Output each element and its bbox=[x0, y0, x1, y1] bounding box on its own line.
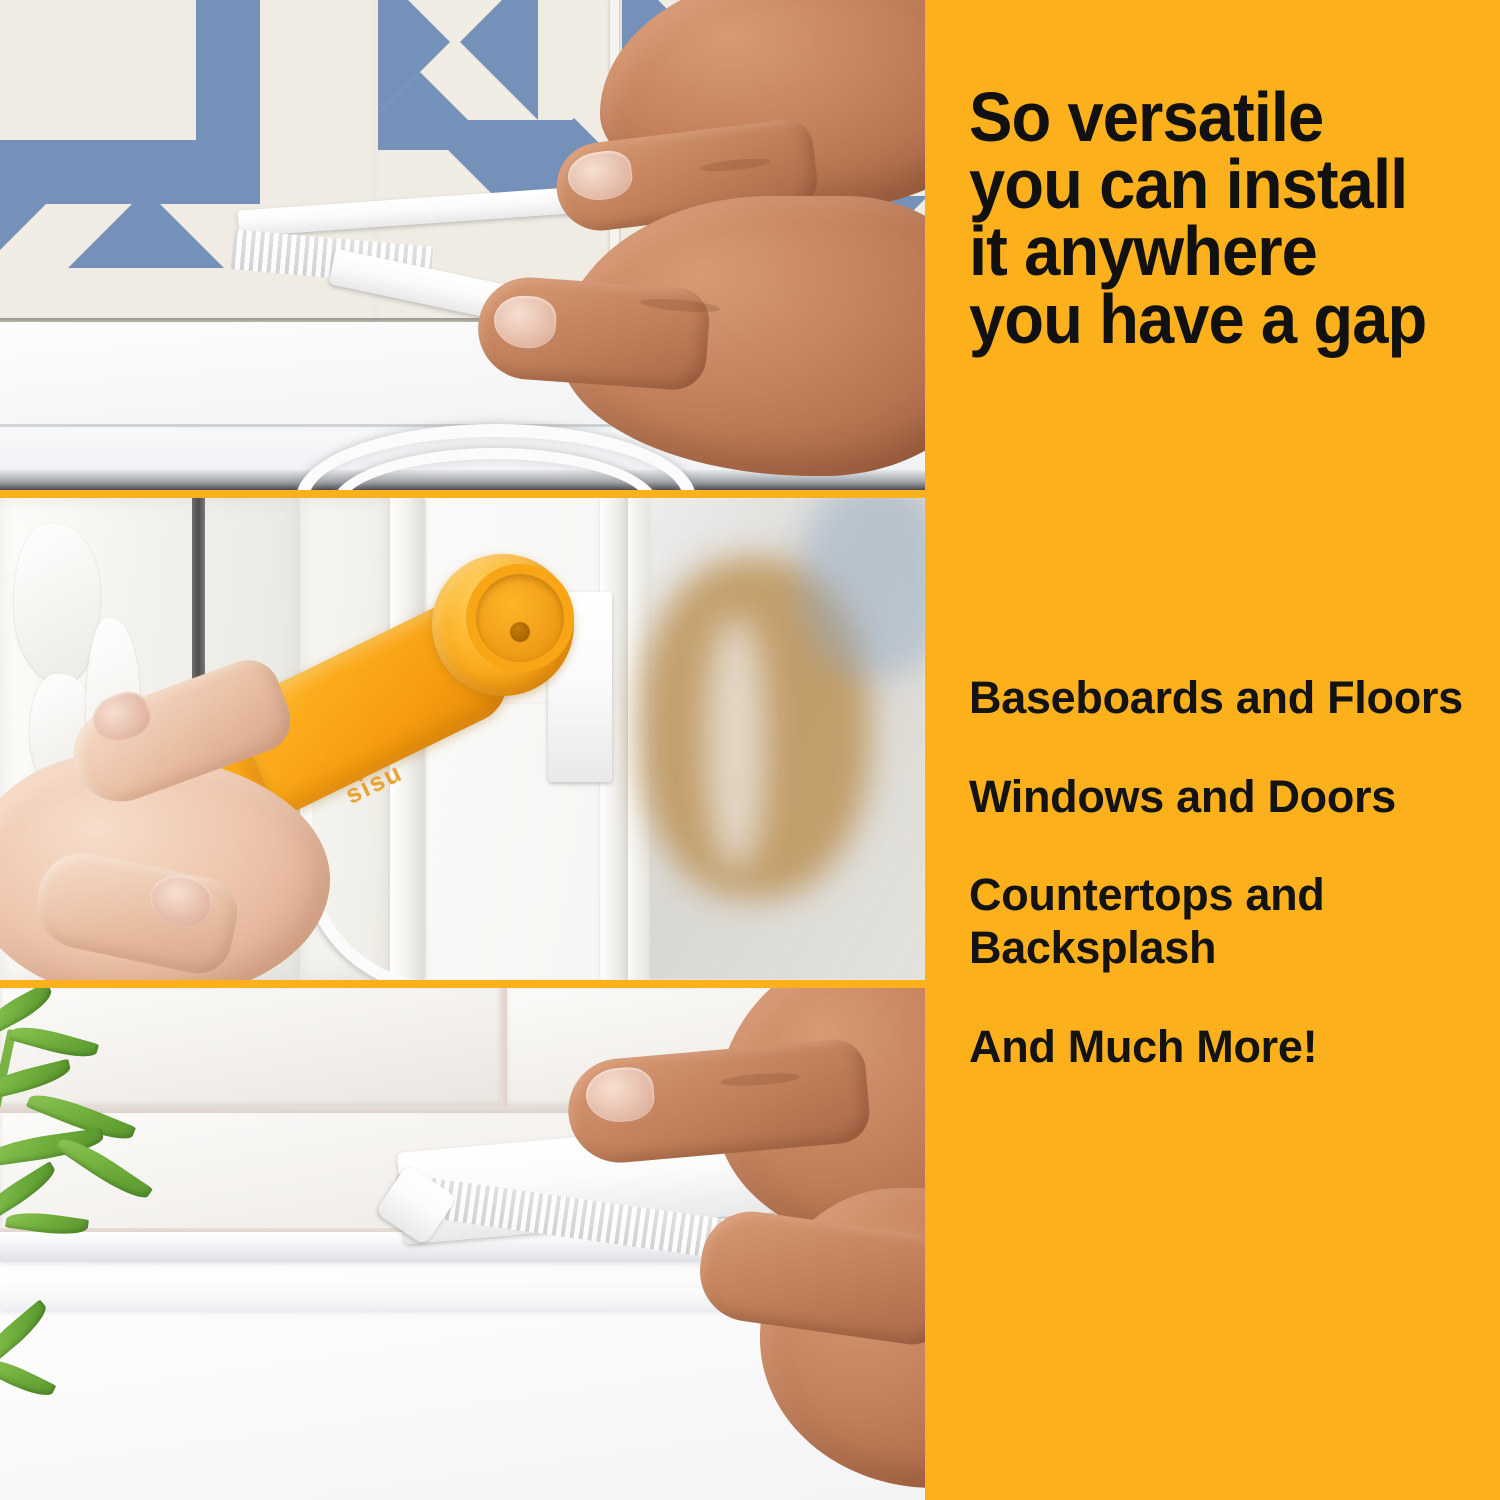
use-case-item-baseboards: Baseboards and Floors bbox=[969, 672, 1499, 725]
use-case-list: Baseboards and Floors Windows and Doors … bbox=[969, 672, 1499, 1073]
photo-panel-countertop bbox=[0, 988, 925, 1500]
glass-reflection-cool bbox=[800, 498, 925, 678]
use-case-item-countertops: Countertops and Backsplash bbox=[969, 869, 1499, 974]
brick-mortar-vertical bbox=[500, 988, 507, 1106]
panel-divider-1 bbox=[0, 490, 925, 498]
glass-reflection-light bbox=[706, 618, 766, 868]
applicator-tool-hole bbox=[510, 622, 530, 642]
paint-drip-1 bbox=[14, 524, 100, 684]
panel-divider-2 bbox=[0, 980, 925, 988]
photo-column: sisu bbox=[0, 0, 925, 1500]
window-wall: sisu bbox=[0, 498, 925, 980]
applicator-tool-head-ring bbox=[466, 564, 574, 672]
photo-panel-window: sisu bbox=[0, 498, 925, 980]
photo-panel-backsplash bbox=[0, 0, 925, 490]
tile-spiral bbox=[0, 0, 370, 330]
window-glass-pane bbox=[650, 498, 925, 980]
use-case-item-windows: Windows and Doors bbox=[969, 771, 1499, 824]
headline: So versatile you can install it anywhere… bbox=[969, 84, 1443, 353]
product-feature-image: sisu bbox=[0, 0, 1500, 1500]
text-column: So versatile you can install it anywhere… bbox=[925, 0, 1500, 1500]
use-case-item-more: And Much More! bbox=[969, 1021, 1499, 1074]
